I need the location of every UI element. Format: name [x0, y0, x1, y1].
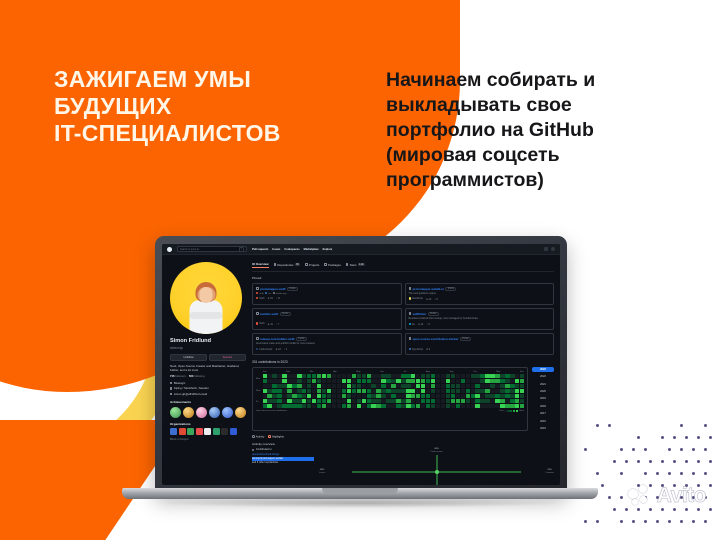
unfollow-button[interactable]: Unfollow — [170, 354, 207, 361]
calendar-day-cell[interactable] — [456, 404, 460, 408]
tab-overview[interactable]: Overview — [252, 262, 269, 268]
calendar-day-cell[interactable] — [431, 379, 435, 383]
calendar-day-cell[interactable] — [376, 374, 380, 378]
calendar-day-cell[interactable] — [317, 384, 321, 388]
calendar-day-cell[interactable] — [267, 379, 271, 383]
org-icon[interactable] — [204, 428, 211, 435]
calendar-day-cell[interactable] — [436, 379, 440, 383]
calendar-day-cell[interactable] — [272, 374, 276, 378]
calendar-day-cell[interactable] — [451, 404, 455, 408]
calendar-day-cell[interactable] — [307, 389, 311, 393]
calendar-day-cell[interactable] — [495, 389, 499, 393]
calendar-day-cell[interactable] — [312, 384, 316, 388]
calendar-day-cell[interactable] — [431, 399, 435, 403]
achievement-badge[interactable] — [183, 407, 194, 418]
calendar-day-cell[interactable] — [475, 384, 479, 388]
calendar-day-cell[interactable] — [367, 374, 371, 378]
calendar-day-cell[interactable] — [391, 379, 395, 383]
block-or-report-link[interactable]: Block or Report — [170, 438, 246, 441]
calendar-day-cell[interactable] — [406, 404, 410, 408]
achievement-badge[interactable] — [196, 407, 207, 418]
calendar-day-cell[interactable] — [466, 394, 470, 398]
org-icon[interactable] — [230, 428, 237, 435]
calendar-day-cell[interactable] — [441, 404, 445, 408]
calendar-day-cell[interactable] — [362, 384, 366, 388]
calendar-day-cell[interactable] — [322, 389, 326, 393]
calendar-day-cell[interactable] — [297, 384, 301, 388]
calendar-day-cell[interactable] — [396, 379, 400, 383]
calendar-day-cell[interactable] — [406, 399, 410, 403]
pinned-repo-card[interactable]: release-tool-builder-swift Public Automa… — [252, 333, 402, 355]
calendar-day-cell[interactable] — [282, 399, 286, 403]
calendar-day-cell[interactable] — [371, 384, 375, 388]
avatar[interactable] — [170, 262, 242, 334]
calendar-day-cell[interactable] — [426, 394, 430, 398]
achievement-badge[interactable] — [209, 407, 220, 418]
calendar-day-cell[interactable] — [272, 399, 276, 403]
calendar-day-cell[interactable] — [322, 399, 326, 403]
search-input[interactable]: Search or jump to... / — [177, 246, 247, 252]
org-icon[interactable] — [187, 428, 194, 435]
calendar-day-cell[interactable] — [411, 374, 415, 378]
calendar-day-cell[interactable] — [287, 389, 291, 393]
calendar-day-cell[interactable] — [456, 374, 460, 378]
github-logo-icon[interactable] — [167, 247, 172, 252]
calendar-day-cell[interactable] — [342, 394, 346, 398]
calendar-day-cell[interactable] — [342, 399, 346, 403]
calendar-day-cell[interactable] — [381, 394, 385, 398]
calendar-day-cell[interactable] — [312, 399, 316, 403]
calendar-day-cell[interactable] — [302, 404, 306, 408]
calendar-day-cell[interactable] — [396, 389, 400, 393]
calendar-day-cell[interactable] — [401, 389, 405, 393]
calendar-day-cell[interactable] — [515, 404, 519, 408]
calendar-day-cell[interactable] — [485, 379, 489, 383]
calendar-day-cell[interactable] — [307, 404, 311, 408]
email-text[interactable]: simon.gh@e814fbcd.email — [174, 392, 207, 396]
calendar-day-cell[interactable] — [386, 374, 390, 378]
pinned-repo-stars[interactable]: ★ 32 — [426, 298, 431, 301]
calendar-day-cell[interactable] — [396, 384, 400, 388]
calendar-day-cell[interactable] — [446, 394, 450, 398]
calendar-day-cell[interactable] — [312, 389, 316, 393]
calendar-day-cell[interactable] — [386, 399, 390, 403]
year-option-2021[interactable]: 2021 — [532, 382, 554, 387]
calendar-day-cell[interactable] — [342, 389, 346, 393]
calendar-day-cell[interactable] — [307, 399, 311, 403]
calendar-day-cell[interactable] — [441, 374, 445, 378]
calendar-day-cell[interactable] — [272, 384, 276, 388]
calendar-day-cell[interactable] — [515, 399, 519, 403]
calendar-day-cell[interactable] — [510, 394, 514, 398]
calendar-day-cell[interactable] — [277, 404, 281, 408]
calendar-day-cell[interactable] — [287, 394, 291, 398]
calendar-day-cell[interactable] — [436, 399, 440, 403]
calendar-day-cell[interactable] — [401, 384, 405, 388]
pinned-repo-card[interactable]: protomapper-webkit-ui Public The web gra… — [405, 283, 555, 305]
calendar-day-cell[interactable] — [297, 379, 301, 383]
calendar-day-cell[interactable] — [376, 389, 380, 393]
calendar-day-cell[interactable] — [391, 374, 395, 378]
calendar-day-cell[interactable] — [386, 384, 390, 388]
calendar-day-cell[interactable] — [263, 389, 267, 393]
calendar-day-cell[interactable] — [367, 399, 371, 403]
calendar-day-cell[interactable] — [267, 374, 271, 378]
calendar-day-cell[interactable] — [302, 394, 306, 398]
nav-item-explore[interactable]: Explore — [323, 248, 333, 251]
calendar-day-cell[interactable] — [495, 379, 499, 383]
calendar-day-cell[interactable] — [505, 404, 509, 408]
calendar-day-cell[interactable] — [317, 404, 321, 408]
calendar-day-cell[interactable] — [495, 384, 499, 388]
calendar-day-cell[interactable] — [332, 384, 336, 388]
calendar-day-cell[interactable] — [277, 394, 281, 398]
calendar-day-cell[interactable] — [520, 379, 524, 383]
calendar-day-cell[interactable] — [421, 389, 425, 393]
calendar-day-cell[interactable] — [485, 389, 489, 393]
calendar-day-cell[interactable] — [480, 394, 484, 398]
calendar-day-cell[interactable] — [480, 399, 484, 403]
nav-item-marketplace[interactable]: Marketplace — [304, 248, 319, 251]
calendar-day-cell[interactable] — [441, 384, 445, 388]
calendar-day-cell[interactable] — [436, 374, 440, 378]
calendar-day-cell[interactable] — [466, 374, 470, 378]
calendar-day-cell[interactable] — [500, 399, 504, 403]
calendar-day-cell[interactable] — [386, 394, 390, 398]
calendar-day-cell[interactable] — [386, 379, 390, 383]
calendar-day-cell[interactable] — [475, 404, 479, 408]
calendar-day-cell[interactable] — [495, 404, 499, 408]
pinned-repo-card[interactable]: protomapper-swift Public swift ios mobil… — [252, 283, 402, 305]
calendar-day-cell[interactable] — [505, 399, 509, 403]
following-stat[interactable]: 563 following — [189, 375, 205, 378]
calendar-day-cell[interactable] — [406, 384, 410, 388]
calendar-day-cell[interactable] — [480, 374, 484, 378]
calendar-day-cell[interactable] — [287, 399, 291, 403]
calendar-day-cell[interactable] — [267, 404, 271, 408]
calendar-day-cell[interactable] — [263, 374, 267, 378]
pinned-repo-forks[interactable]: ⑂ 11 — [276, 297, 281, 300]
calendar-day-cell[interactable] — [317, 374, 321, 378]
calendar-day-cell[interactable] — [277, 379, 281, 383]
calendar-day-cell[interactable] — [337, 404, 341, 408]
calendar-day-cell[interactable] — [441, 389, 445, 393]
calendar-day-cell[interactable] — [401, 394, 405, 398]
calendar-day-cell[interactable] — [327, 389, 331, 393]
calendar-day-cell[interactable] — [451, 384, 455, 388]
calendar-day-cell[interactable] — [302, 379, 306, 383]
calendar-day-cell[interactable] — [327, 374, 331, 378]
calendar-day-cell[interactable] — [307, 394, 311, 398]
nav-item-pull-requests[interactable]: Pull requests — [252, 248, 268, 251]
calendar-day-cell[interactable] — [292, 384, 296, 388]
calendar-day-cell[interactable] — [381, 384, 385, 388]
calendar-day-cell[interactable] — [431, 389, 435, 393]
pinned-repo-card[interactable]: bundler-swift Public Swift ★ 41 ⑂ 7 — [252, 308, 402, 330]
calendar-day-cell[interactable] — [282, 384, 286, 388]
calendar-day-cell[interactable] — [520, 384, 524, 388]
calendar-day-cell[interactable] — [352, 379, 356, 383]
calendar-day-cell[interactable] — [441, 379, 445, 383]
calendar-day-cell[interactable] — [441, 399, 445, 403]
calendar-day-cell[interactable] — [446, 374, 450, 378]
calendar-day-cell[interactable] — [396, 374, 400, 378]
calendar-day-cell[interactable] — [263, 379, 267, 383]
sponsor-button[interactable]: Sponsor — [209, 354, 246, 361]
calendar-day-cell[interactable] — [292, 374, 296, 378]
calendar-day-cell[interactable] — [490, 379, 494, 383]
calendar-day-cell[interactable] — [297, 389, 301, 393]
calendar-day-cell[interactable] — [456, 389, 460, 393]
calendar-day-cell[interactable] — [475, 389, 479, 393]
calendar-day-cell[interactable] — [480, 384, 484, 388]
calendar-day-cell[interactable] — [312, 394, 316, 398]
org-icon[interactable] — [170, 428, 177, 435]
calendar-day-cell[interactable] — [471, 394, 475, 398]
calendar-day-cell[interactable] — [480, 404, 484, 408]
calendar-day-cell[interactable] — [515, 389, 519, 393]
calendar-day-cell[interactable] — [337, 399, 341, 403]
pinned-repo-forks[interactable]: ⑂ 3 — [284, 348, 287, 351]
calendar-day-cell[interactable] — [277, 389, 281, 393]
pinned-repo-stars[interactable]: ★ 9 — [426, 348, 430, 351]
pinned-repo-name[interactable]: bundler-swift — [260, 312, 278, 316]
calendar-day-cell[interactable] — [352, 394, 356, 398]
calendar-day-cell[interactable] — [406, 394, 410, 398]
header-avatar[interactable] — [551, 247, 555, 251]
calendar-day-cell[interactable] — [466, 379, 470, 383]
year-option-2020[interactable]: 2020 — [532, 389, 554, 394]
calendar-day-cell[interactable] — [277, 384, 281, 388]
calendar-day-cell[interactable] — [267, 384, 271, 388]
calendar-day-cell[interactable] — [471, 399, 475, 403]
calendar-day-cell[interactable] — [505, 374, 509, 378]
calendar-day-cell[interactable] — [391, 394, 395, 398]
calendar-day-cell[interactable] — [367, 404, 371, 408]
calendar-day-cell[interactable] — [337, 394, 341, 398]
calendar-day-cell[interactable] — [416, 399, 420, 403]
calendar-day-cell[interactable] — [317, 389, 321, 393]
achievement-badge[interactable] — [235, 407, 246, 418]
calendar-day-cell[interactable] — [406, 389, 410, 393]
calendar-day-cell[interactable] — [282, 379, 286, 383]
calendar-day-cell[interactable] — [267, 399, 271, 403]
calendar-day-cell[interactable] — [485, 384, 489, 388]
calendar-day-cell[interactable] — [446, 384, 450, 388]
calendar-day-cell[interactable] — [342, 374, 346, 378]
calendar-day-cell[interactable] — [287, 374, 291, 378]
calendar-day-cell[interactable] — [307, 379, 311, 383]
calendar-day-cell[interactable] — [451, 379, 455, 383]
calendar-day-cell[interactable] — [287, 384, 291, 388]
calendar-day-cell[interactable] — [322, 394, 326, 398]
calendar-day-cell[interactable] — [401, 399, 405, 403]
calendar-day-cell[interactable] — [277, 374, 281, 378]
calendar-day-cell[interactable] — [371, 394, 375, 398]
calendar-day-cell[interactable] — [317, 379, 321, 383]
calendar-day-cell[interactable] — [490, 384, 494, 388]
calendar-day-cell[interactable] — [332, 389, 336, 393]
notifications-bell-icon[interactable] — [544, 247, 548, 251]
pinned-repo-forks[interactable]: ⑂ 8 — [434, 298, 437, 301]
calendar-day-cell[interactable] — [520, 394, 524, 398]
calendar-day-cell[interactable] — [357, 404, 361, 408]
calendar-day-cell[interactable] — [406, 374, 410, 378]
calendar-day-cell[interactable] — [297, 394, 301, 398]
pinned-repo-name[interactable]: swiftlinter — [413, 312, 427, 316]
calendar-day-cell[interactable] — [376, 394, 380, 398]
calendar-day-cell[interactable] — [302, 384, 306, 388]
year-option-2015[interactable]: 2015 — [532, 426, 554, 431]
pinned-repo-stars[interactable]: ★ 24 — [418, 323, 423, 326]
toggle-highlights[interactable]: Highlights — [268, 435, 284, 439]
year-option-2023[interactable]: 2023 — [532, 367, 554, 372]
calendar-day-cell[interactable] — [362, 404, 366, 408]
org-icon[interactable] — [213, 428, 220, 435]
pinned-repo-stars[interactable]: ★ 41 — [267, 323, 272, 326]
calendar-day-cell[interactable] — [352, 404, 356, 408]
calendar-day-cell[interactable] — [357, 374, 361, 378]
pinned-repo-name[interactable]: release-tool-builder-swift — [260, 337, 294, 341]
calendar-day-cell[interactable] — [302, 374, 306, 378]
calendar-day-cell[interactable] — [431, 404, 435, 408]
calendar-day-cell[interactable] — [332, 374, 336, 378]
calendar-day-cell[interactable] — [505, 394, 509, 398]
calendar-day-cell[interactable] — [371, 374, 375, 378]
calendar-day-cell[interactable] — [490, 394, 494, 398]
pinned-repo-stars[interactable]: ★ 54 — [267, 297, 272, 300]
calendar-day-cell[interactable] — [421, 384, 425, 388]
calendar-day-cell[interactable] — [292, 404, 296, 408]
calendar-day-cell[interactable] — [461, 394, 465, 398]
calendar-day-cell[interactable] — [307, 384, 311, 388]
calendar-day-cell[interactable] — [282, 394, 286, 398]
calendar-day-cell[interactable] — [317, 399, 321, 403]
calendar-day-cell[interactable] — [391, 389, 395, 393]
calendar-day-cell[interactable] — [263, 404, 267, 408]
calendar-day-cell[interactable] — [302, 399, 306, 403]
calendar-day-cell[interactable] — [391, 399, 395, 403]
calendar-day-cell[interactable] — [411, 389, 415, 393]
calendar-day-cell[interactable] — [416, 404, 420, 408]
calendar-day-cell[interactable] — [490, 374, 494, 378]
calendar-day-cell[interactable] — [297, 404, 301, 408]
contributed-repo-more[interactable]: and 6 other repositories — [252, 461, 314, 465]
pinned-repo-name[interactable]: protomapper-swift — [260, 287, 285, 291]
calendar-day-cell[interactable] — [272, 394, 276, 398]
calendar-day-cell[interactable] — [411, 394, 415, 398]
calendar-day-cell[interactable] — [421, 404, 425, 408]
calendar-day-cell[interactable] — [391, 384, 395, 388]
calendar-day-cell[interactable] — [446, 389, 450, 393]
calendar-day-cell[interactable] — [381, 374, 385, 378]
calendar-day-cell[interactable] — [263, 399, 267, 403]
calendar-day-cell[interactable] — [327, 384, 331, 388]
calendar-day-cell[interactable] — [411, 404, 415, 408]
calendar-day-cell[interactable] — [446, 404, 450, 408]
calendar-day-cell[interactable] — [446, 399, 450, 403]
calendar-day-cell[interactable] — [441, 394, 445, 398]
nav-item-codespaces[interactable]: Codespaces — [284, 248, 299, 251]
calendar-day-cell[interactable] — [500, 404, 504, 408]
calendar-day-cell[interactable] — [451, 399, 455, 403]
achievement-badge[interactable] — [222, 407, 233, 418]
calendar-day-cell[interactable] — [475, 379, 479, 383]
calendar-day-cell[interactable] — [510, 379, 514, 383]
calendar-day-cell[interactable] — [471, 379, 475, 383]
calendar-day-cell[interactable] — [381, 389, 385, 393]
calendar-day-cell[interactable] — [411, 399, 415, 403]
calendar-day-cell[interactable] — [500, 374, 504, 378]
calendar-day-cell[interactable] — [263, 394, 267, 398]
calendar-day-cell[interactable] — [327, 379, 331, 383]
topic-chip[interactable]: mobile-app — [273, 292, 287, 295]
year-option-2022[interactable]: 2022 — [532, 374, 554, 379]
calendar-day-cell[interactable] — [267, 389, 271, 393]
calendar-day-cell[interactable] — [520, 374, 524, 378]
calendar-day-cell[interactable] — [376, 379, 380, 383]
calendar-day-cell[interactable] — [381, 404, 385, 408]
pinned-repo-card[interactable]: open-source-contribution-tracker Public … — [405, 333, 555, 355]
calendar-day-cell[interactable] — [371, 399, 375, 403]
pinned-repo-card[interactable]: swiftlinter Public Resolves build-kit li… — [405, 308, 555, 330]
calendar-day-cell[interactable] — [381, 399, 385, 403]
calendar-day-cell[interactable] — [347, 404, 351, 408]
calendar-day-cell[interactable] — [416, 384, 420, 388]
calendar-day-cell[interactable] — [466, 384, 470, 388]
calendar-day-cell[interactable] — [337, 389, 341, 393]
calendar-day-cell[interactable] — [337, 379, 341, 383]
calendar-day-cell[interactable] — [362, 389, 366, 393]
calendar-day-cell[interactable] — [451, 394, 455, 398]
calendar-day-cell[interactable] — [347, 384, 351, 388]
calendar-day-cell[interactable] — [520, 404, 524, 408]
calendar-day-cell[interactable] — [287, 404, 291, 408]
calendar-day-cell[interactable] — [327, 399, 331, 403]
calendar-day-cell[interactable] — [277, 399, 281, 403]
calendar-day-cell[interactable] — [436, 389, 440, 393]
calendar-day-cell[interactable] — [426, 389, 430, 393]
calendar-day-cell[interactable] — [292, 394, 296, 398]
calendar-day-cell[interactable] — [357, 394, 361, 398]
calendar-day-cell[interactable] — [362, 374, 366, 378]
calendar-cells[interactable] — [263, 374, 525, 408]
calendar-day-cell[interactable] — [490, 399, 494, 403]
calendar-day-cell[interactable] — [347, 389, 351, 393]
calendar-day-cell[interactable] — [312, 404, 316, 408]
calendar-day-cell[interactable] — [490, 404, 494, 408]
calendar-day-cell[interactable] — [342, 384, 346, 388]
calendar-day-cell[interactable] — [357, 384, 361, 388]
calendar-day-cell[interactable] — [391, 404, 395, 408]
calendar-day-cell[interactable] — [332, 379, 336, 383]
tab-projects[interactable]: Projects — [305, 262, 319, 268]
calendar-day-cell[interactable] — [376, 399, 380, 403]
calendar-day-cell[interactable] — [461, 404, 465, 408]
calendar-day-cell[interactable] — [416, 379, 420, 383]
year-option-2016[interactable]: 2016 — [532, 418, 554, 423]
calendar-day-cell[interactable] — [386, 404, 390, 408]
calendar-day-cell[interactable] — [302, 389, 306, 393]
calendar-day-cell[interactable] — [466, 389, 470, 393]
calendar-day-cell[interactable] — [490, 389, 494, 393]
calendar-day-cell[interactable] — [495, 399, 499, 403]
calendar-day-cell[interactable] — [322, 379, 326, 383]
calendar-day-cell[interactable] — [520, 389, 524, 393]
year-option-2017[interactable]: 2017 — [532, 411, 554, 416]
calendar-day-cell[interactable] — [485, 399, 489, 403]
org-icon[interactable] — [179, 428, 186, 435]
